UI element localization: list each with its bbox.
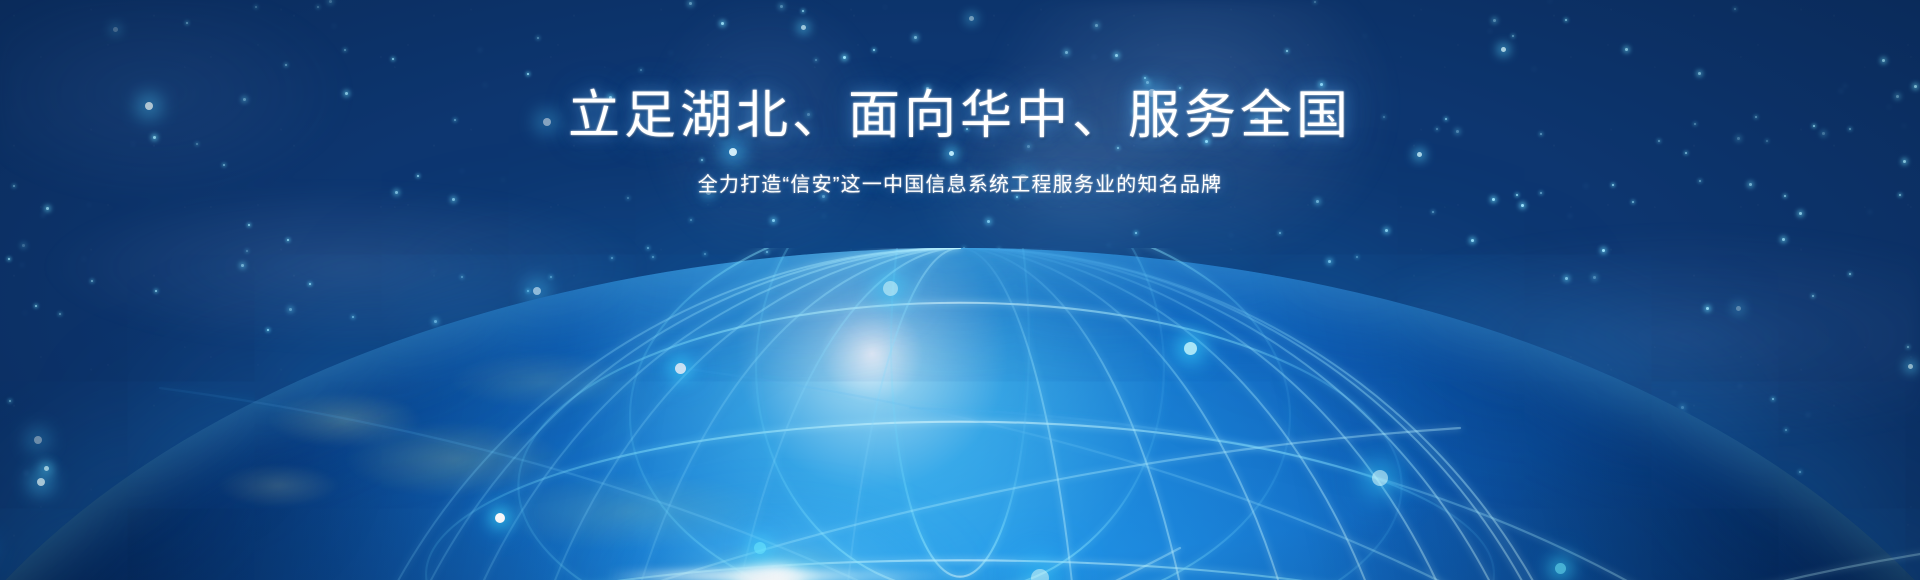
star: [1385, 229, 1388, 232]
star: [969, 16, 974, 21]
star: [1316, 200, 1319, 203]
star: [1493, 19, 1496, 22]
star: [285, 64, 287, 66]
star: [1799, 212, 1802, 215]
star: [1882, 59, 1885, 62]
mesh-line: [960, 248, 1212, 580]
star: [914, 36, 917, 39]
star: [1492, 198, 1495, 201]
mesh-line: [411, 248, 960, 580]
star: [1286, 50, 1288, 52]
star: [1115, 54, 1118, 57]
star: [1521, 204, 1524, 207]
mesh-line: [120, 548, 1920, 580]
network-node: [1184, 342, 1197, 355]
star: [1625, 48, 1628, 51]
network-node: [495, 513, 505, 523]
star: [287, 239, 289, 241]
star: [1065, 51, 1068, 54]
star: [452, 198, 455, 201]
mesh-line: [593, 248, 960, 580]
star: [1501, 47, 1506, 52]
mesh-line: [0, 428, 1460, 580]
mesh-line: [831, 248, 960, 580]
star: [392, 58, 394, 60]
mesh-line: [0, 548, 1180, 580]
network-node: [754, 542, 766, 554]
mesh-line: [680, 368, 1920, 580]
mesh-line: [960, 248, 1509, 580]
star: [1314, 1, 1316, 3]
star: [843, 56, 846, 59]
star: [690, 219, 692, 221]
star: [317, 6, 319, 8]
star: [1095, 24, 1098, 27]
star: [537, 37, 539, 39]
mesh-line: [350, 248, 960, 580]
star: [1146, 81, 1149, 84]
star: [344, 49, 346, 51]
mesh-line: [160, 388, 1740, 580]
star: [22, 244, 25, 247]
star: [1565, 19, 1567, 21]
star: [640, 69, 642, 71]
star: [1135, 232, 1137, 234]
star: [873, 49, 875, 51]
star: [46, 207, 49, 210]
banner-text-block: 立足湖北、面向华中、服务全国 全力打造“信安”这一中国信息系统工程服务业的知名品…: [0, 86, 1920, 197]
star: [802, 10, 804, 12]
star: [780, 5, 783, 8]
network-globe: [0, 248, 1920, 580]
banner-title: 立足湖北、面向华中、服务全国: [0, 86, 1920, 146]
network-node: [883, 281, 898, 296]
core-flare-streak: [605, 570, 955, 580]
star: [1432, 211, 1434, 213]
star: [186, 22, 188, 24]
star: [329, 0, 332, 3]
star: [772, 219, 775, 222]
network-node: [1555, 563, 1566, 574]
star: [1632, 201, 1634, 203]
mesh-line: [960, 248, 1570, 580]
hero-banner: 立足湖北、面向华中、服务全国 全力打造“信安”这一中国信息系统工程服务业的知名品…: [0, 0, 1920, 580]
star: [1512, 35, 1514, 37]
banner-subtitle: 全力打造“信安”这一中国信息系统工程服务业的知名品牌: [0, 168, 1920, 197]
star: [801, 25, 806, 30]
star: [1279, 232, 1281, 234]
star: [689, 2, 692, 5]
star: [1698, 72, 1701, 75]
star: [987, 220, 990, 223]
star: [1144, 77, 1146, 79]
star: [527, 73, 529, 75]
star: [1734, 8, 1736, 10]
star: [815, 59, 817, 61]
star: [255, 6, 257, 8]
network-node: [1372, 470, 1388, 486]
star: [721, 22, 724, 25]
star: [248, 224, 250, 226]
star: [113, 27, 118, 32]
star: [1471, 239, 1474, 242]
network-node: [675, 363, 686, 374]
globe-mesh-lines: [0, 248, 1920, 580]
network-node: [1031, 569, 1049, 580]
star: [1782, 238, 1785, 241]
